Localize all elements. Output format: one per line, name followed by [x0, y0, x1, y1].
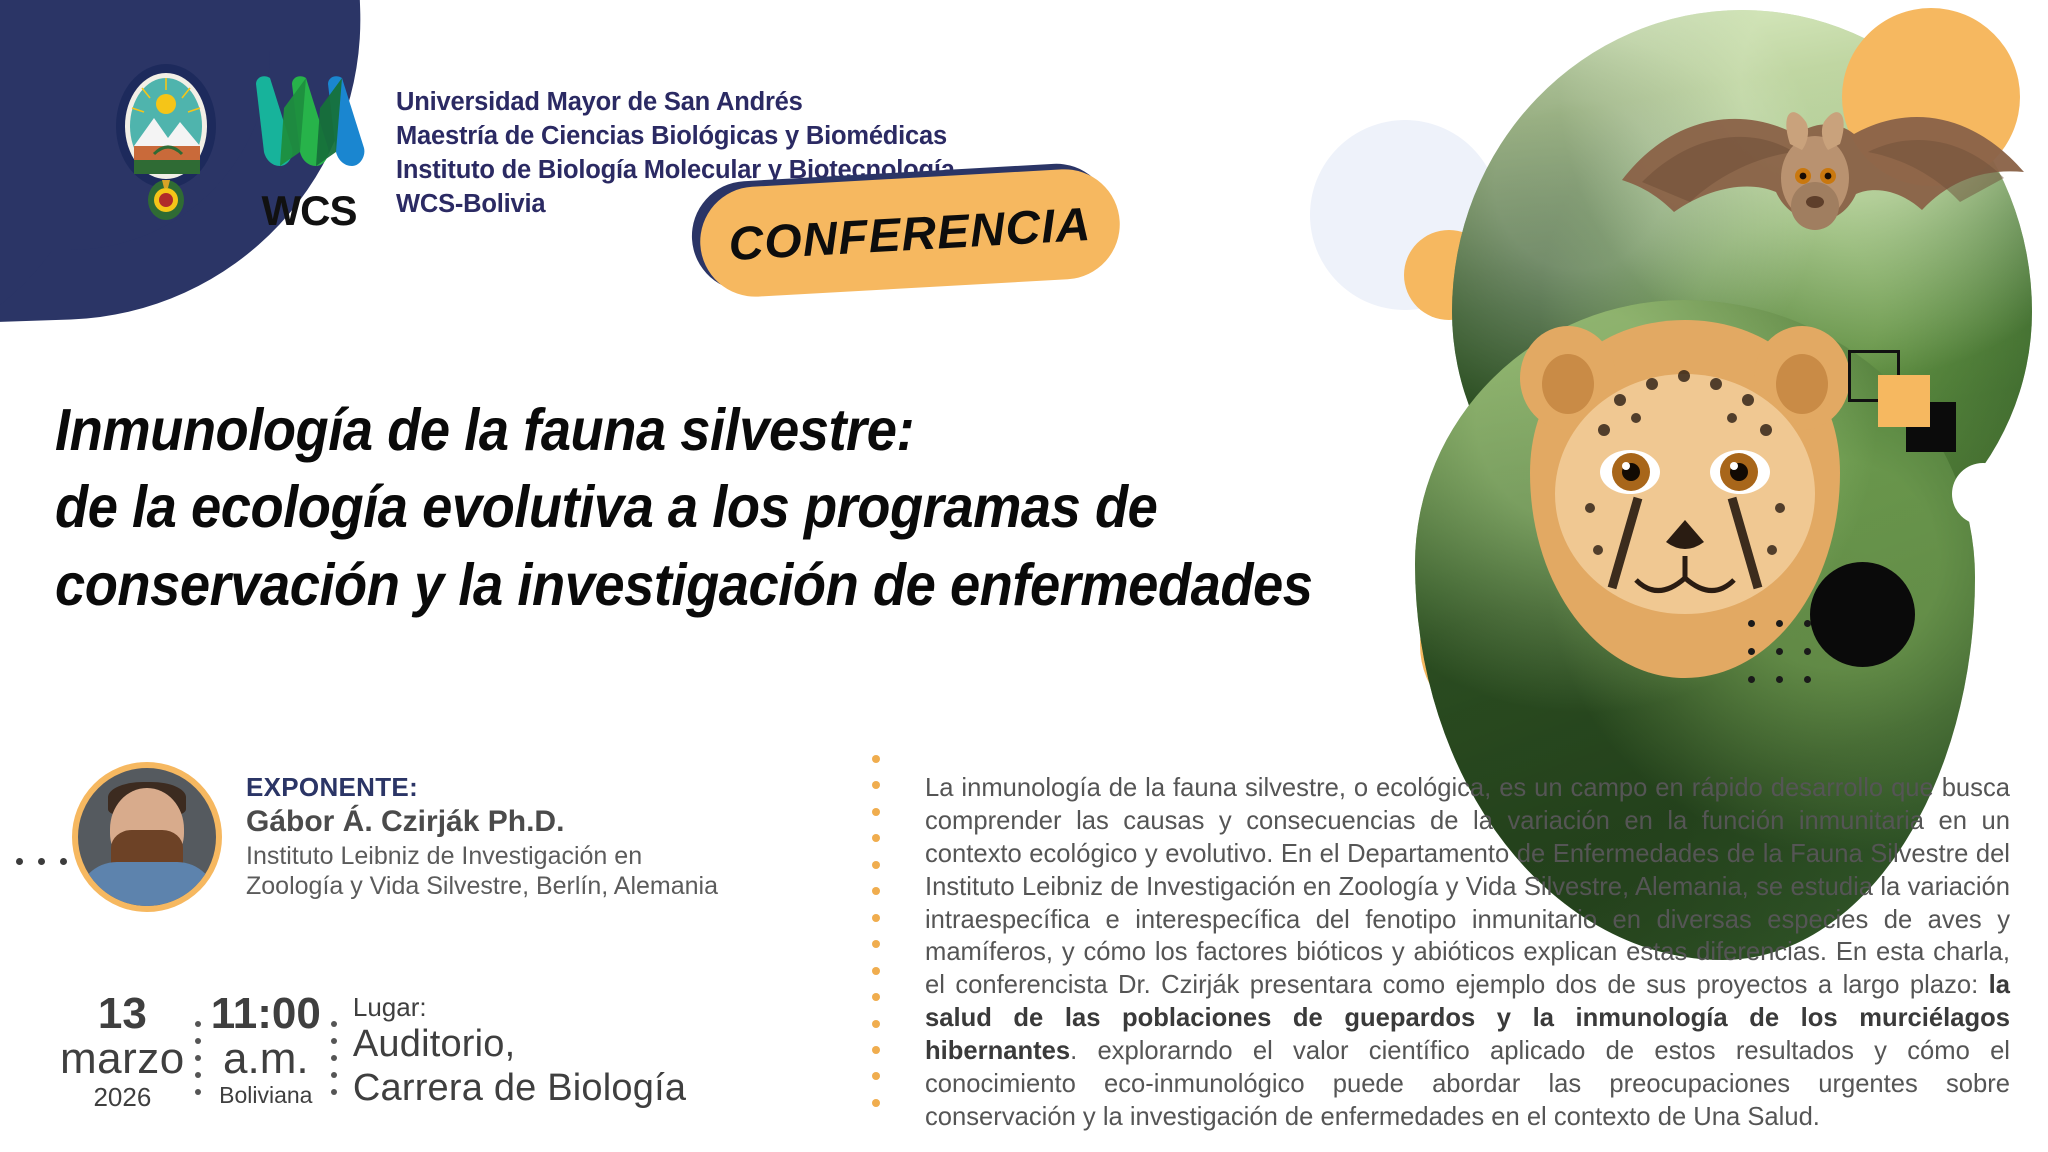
event-place: Lugar: Auditorio, Carrera de Biología [347, 992, 686, 1110]
place-line-1: Auditorio, [353, 1023, 686, 1066]
title-line-3: conservación y la investigación de enfer… [55, 547, 1049, 624]
event-timezone: Boliviana [211, 1082, 321, 1110]
speaker-affiliation-line-2: Zoología y Vida Silvestre, Berlín, Alema… [246, 871, 718, 901]
white-notch-decoration [1952, 463, 2014, 525]
event-date: 13 marzo 2026 [60, 992, 185, 1113]
dot-separator-1 [185, 992, 211, 1102]
event-hour: 11:00 [211, 992, 321, 1036]
avatar-shirt [77, 862, 217, 912]
speaker-text: EXPONENTE: Gábor Á. Czirják Ph.D. Instit… [246, 762, 718, 901]
event-day: 13 [60, 992, 185, 1036]
event-meridiem: a.m. [211, 1036, 321, 1082]
poster-title: Inmunología de la fauna silvestre: de la… [55, 392, 1135, 624]
org-line-2: Maestría de Ciencias Biológicas y Bioméd… [396, 120, 955, 154]
conferencia-badge: CONFERENCIA [700, 178, 1120, 288]
org-line-1: Universidad Mayor de San Andrés [396, 86, 955, 120]
conference-poster: WCS Universidad Mayor de San Andrés Maes… [0, 0, 2048, 1152]
title-line-2: de la ecología evolutiva a los programas… [55, 469, 1049, 546]
speaker-name: Gábor Á. Czirják Ph.D. [246, 805, 718, 839]
place-label: Lugar: [353, 992, 686, 1023]
abstract-paragraph: La inmunología de la fauna silvestre, o … [925, 772, 2010, 1134]
speaker-avatar [72, 762, 222, 912]
badge-label: CONFERENCIA [727, 195, 1092, 270]
dot-separator-2 [321, 992, 347, 1102]
orange-square-decoration [1878, 375, 1930, 427]
wcs-logo: WCS [244, 60, 374, 235]
place-line-2: Carrera de Biología [353, 1067, 686, 1110]
vertical-dotted-divider [872, 755, 880, 1107]
event-time: 11:00 a.m. Boliviana [211, 992, 321, 1110]
flying-bat-icon [1612, 60, 2032, 320]
speaker-label: EXPONENTE: [246, 772, 718, 803]
event-details: 13 marzo 2026 11:00 a.m. Boliviana Lugar… [60, 992, 686, 1113]
wcs-mark-icon [244, 60, 374, 180]
event-month: marzo [60, 1036, 185, 1082]
speaker-affiliation-line-1: Instituto Leibniz de Investigación en [246, 841, 718, 871]
dot-grid-decoration [1748, 620, 1828, 700]
title-line-1: Inmunología de la fauna silvestre: [55, 392, 1049, 469]
university-seal-icon [110, 60, 222, 232]
event-year: 2026 [60, 1082, 185, 1113]
wcs-wordmark: WCS [244, 187, 374, 235]
badge-face: CONFERENCIA [697, 166, 1122, 299]
speaker-block: EXPONENTE: Gábor Á. Czirják Ph.D. Instit… [72, 762, 718, 912]
